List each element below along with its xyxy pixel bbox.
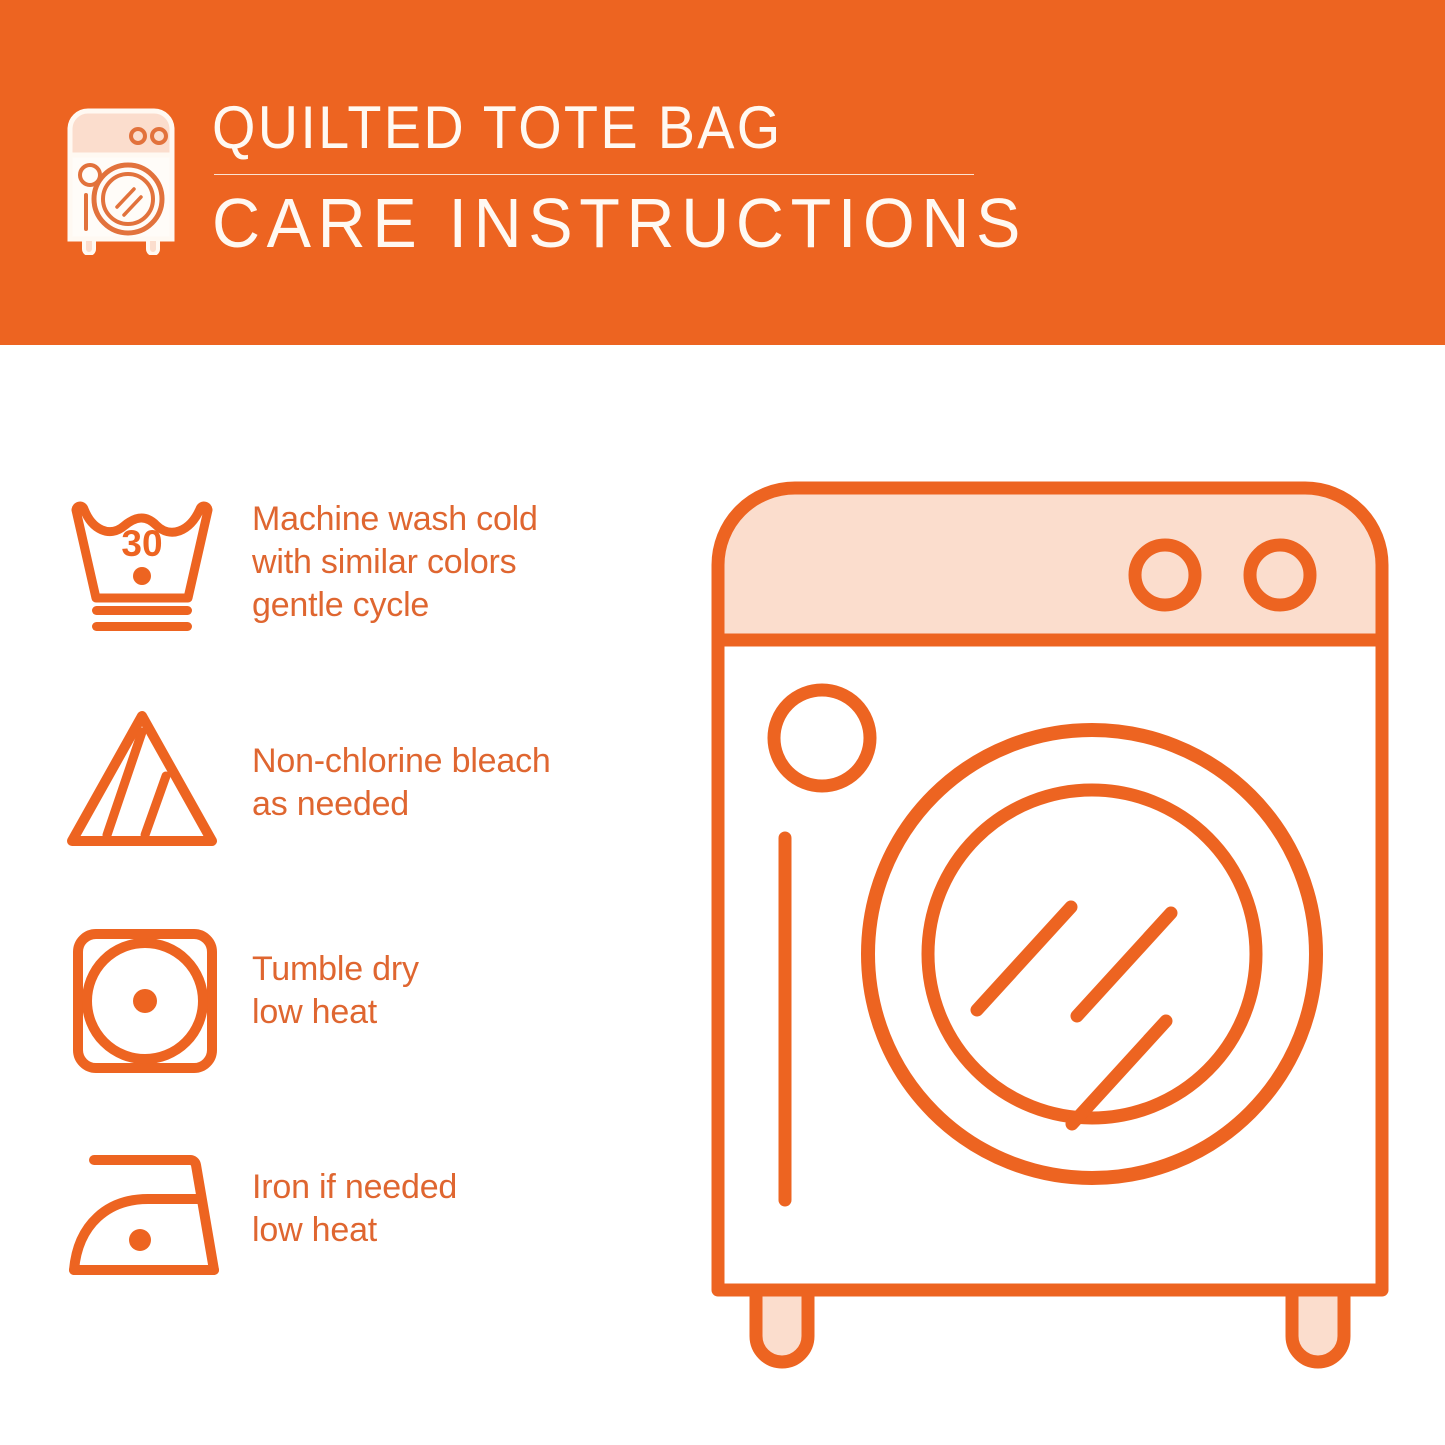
detail-circle — [774, 690, 870, 786]
door-shine-line-1 — [977, 907, 1071, 1010]
washing-machine-icon — [62, 103, 180, 255]
knob-left[interactable] — [1135, 545, 1195, 605]
knob-right[interactable] — [1250, 545, 1310, 605]
care-item-machine-wash: 30 Machine wash cold with similar colors… — [62, 494, 682, 644]
non-chlorine-bleach-triangle-icon — [62, 706, 232, 856]
header-content: QUILTED TOTE BAG CARE INSTRUCTIONS — [62, 95, 1070, 261]
svg-text:30: 30 — [121, 523, 162, 564]
machine-wash-tub-icon: 30 — [62, 494, 232, 644]
care-item-bleach: Non-chlorine bleach as needed — [62, 706, 682, 856]
care-instructions-page: QUILTED TOTE BAG CARE INSTRUCTIONS 30 Ma… — [0, 0, 1445, 1445]
header-banner: QUILTED TOTE BAG CARE INSTRUCTIONS — [0, 0, 1445, 345]
care-item-label: Iron if needed low heat — [252, 1142, 457, 1252]
leg-left — [756, 1290, 808, 1362]
care-item-iron: Iron if needed low heat — [62, 1142, 682, 1292]
care-item-label: Tumble dry low heat — [252, 926, 419, 1034]
door-inner-ring — [928, 790, 1256, 1118]
title-divider — [214, 174, 974, 175]
tumble-dry-icon — [62, 926, 232, 1076]
header-title-group: QUILTED TOTE BAG CARE INSTRUCTIONS — [212, 95, 1070, 261]
iron-icon — [62, 1142, 232, 1292]
washing-machine-illustration — [700, 470, 1400, 1380]
care-item-label: Non-chlorine bleach as needed — [252, 706, 551, 826]
door-shine-line-2 — [1077, 913, 1171, 1016]
page-title: QUILTED TOTE BAG — [212, 95, 1010, 161]
care-item-label: Machine wash cold with similar colors ge… — [252, 494, 538, 627]
care-item-tumble-dry: Tumble dry low heat — [62, 926, 682, 1076]
page-subtitle: CARE INSTRUCTIONS — [212, 185, 1027, 261]
leg-right — [1292, 1290, 1344, 1362]
